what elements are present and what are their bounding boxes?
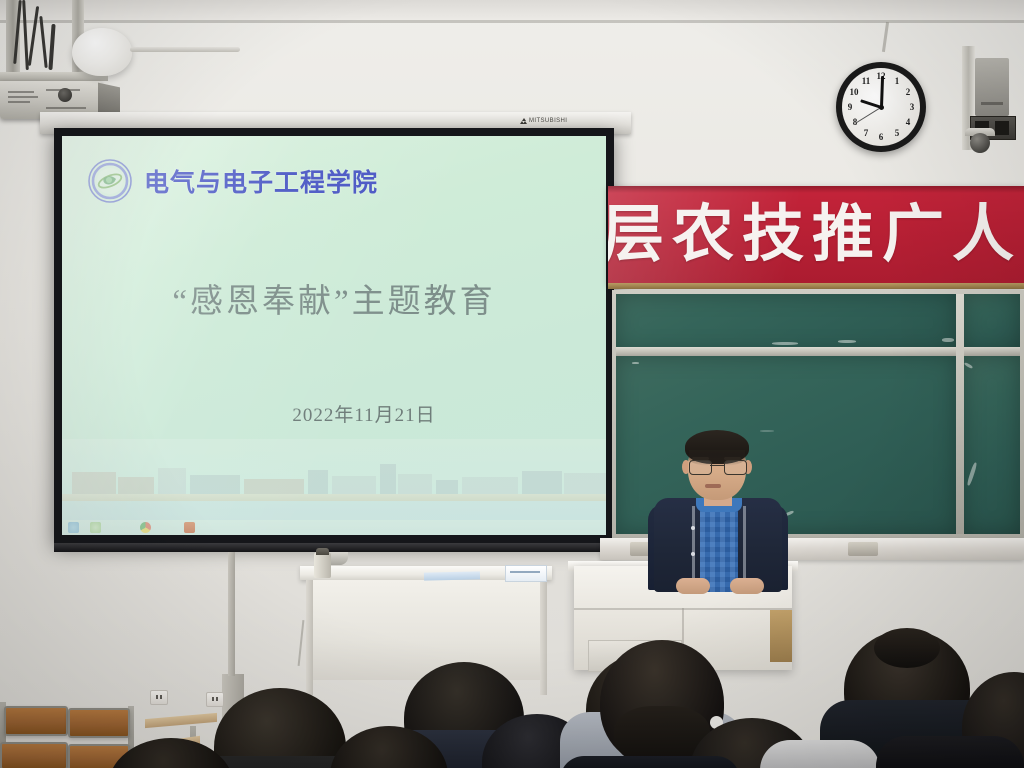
- projection-screen: ······· 电气与电子工程学院 “感恩奉献”主题教育 2022年11月21日: [54, 128, 614, 543]
- svg-text:·······: ·······: [107, 164, 113, 167]
- clock-numeral: 9: [844, 101, 856, 113]
- ceiling-seam: [0, 20, 1024, 23]
- clock-numeral: 3: [906, 101, 918, 113]
- ceiling-dome-speaker: [72, 28, 132, 76]
- lecture-hall-photo: MITSUBISHI ······· 电气与电子工程学院 “感恩奉献”主题教育 …: [0, 0, 1024, 768]
- app-icon[interactable]: [90, 522, 101, 533]
- wall-speaker: [975, 58, 1009, 116]
- wall-outlet[interactable]: [206, 692, 224, 707]
- cctv-camera: [965, 128, 995, 154]
- blue-papers[interactable]: [424, 571, 480, 580]
- mitsubishi-logo: MITSUBISHI: [520, 118, 567, 124]
- projector-lens: [58, 88, 72, 102]
- chrome-icon[interactable]: [140, 522, 151, 533]
- audience-hair-bun: [874, 628, 940, 668]
- presenter-jacket-button: [691, 552, 695, 556]
- presenter-jacket-button: [691, 526, 695, 530]
- housing-brand-label: MITSUBISHI: [529, 118, 567, 124]
- banner-text: 层农技推广人: [608, 200, 1024, 270]
- powerpoint-icon[interactable]: [184, 522, 195, 533]
- camera-lens-icon: [970, 133, 990, 153]
- projector-cables: [14, 0, 72, 78]
- audience-body: [876, 736, 1024, 768]
- windows-taskbar[interactable]: [62, 520, 606, 535]
- audience-body-collar: [760, 740, 880, 768]
- presenter-mouth: [705, 484, 721, 488]
- thermos-cap: [316, 548, 329, 555]
- clock-numeral: 6: [875, 131, 887, 143]
- clock-numeral: 2: [902, 86, 914, 98]
- screen-bottom-bar: [54, 543, 614, 552]
- counter-leg: [540, 580, 547, 695]
- university-emblem-icon: ·······: [88, 159, 132, 203]
- wall-clock: 12 1 2 3 4 5 6 7 8 9 10 11: [836, 62, 926, 152]
- clock-face: 12 1 2 3 4 5 6 7 8 9 10 11: [842, 68, 920, 146]
- clock-second-hand: [855, 107, 881, 124]
- presenter: [648, 430, 788, 590]
- slide-main-title: “感恩奉献”主题教育: [62, 274, 606, 322]
- red-banner: 层农技推广人: [608, 186, 1024, 285]
- clock-numeral: 5: [891, 127, 903, 139]
- clock-center-hub: [879, 105, 884, 110]
- clock-numeral: 11: [860, 75, 872, 87]
- student-seat[interactable]: [68, 708, 130, 738]
- name-card[interactable]: [505, 565, 547, 582]
- audience-body: [560, 756, 740, 768]
- projected-slide: ······· 电气与电子工程学院 “感恩奉献”主题教育 2022年11月21日: [62, 136, 606, 535]
- wall-conduit-vertical: [228, 552, 235, 676]
- blackboard-panel-right: [964, 356, 1020, 534]
- lectern-wood-side: [770, 610, 792, 662]
- chalkboard-eraser[interactable]: [848, 542, 878, 556]
- wall-outlet[interactable]: [150, 690, 168, 705]
- slide-department-title: 电气与电子工程学院: [144, 163, 378, 199]
- clock-numeral: 7: [860, 127, 872, 139]
- presenter-right-hand: [730, 578, 764, 594]
- presenter-left-hand: [676, 578, 710, 594]
- banner-rod: [608, 283, 1024, 289]
- wall-conduit: [130, 47, 240, 52]
- blackboard-panel-right-top: [964, 294, 1020, 352]
- student-seat[interactable]: [0, 742, 68, 768]
- student-seat[interactable]: [4, 706, 68, 736]
- blackboard-divider-vertical: [956, 294, 964, 534]
- clock-minute-hand: [880, 76, 884, 107]
- presenter-glasses: [689, 460, 745, 473]
- slide-date: 2022年11月21日: [62, 400, 606, 427]
- cityscape-photo: [62, 439, 606, 535]
- counter-front-panel: [306, 580, 546, 680]
- clock-numeral: 4: [902, 116, 914, 128]
- ceiling-band: [0, 0, 1024, 20]
- folder-icon[interactable]: [68, 522, 79, 533]
- counter-leg: [306, 580, 313, 695]
- thermos-flask[interactable]: [314, 552, 331, 578]
- clock-numeral: 10: [848, 86, 860, 98]
